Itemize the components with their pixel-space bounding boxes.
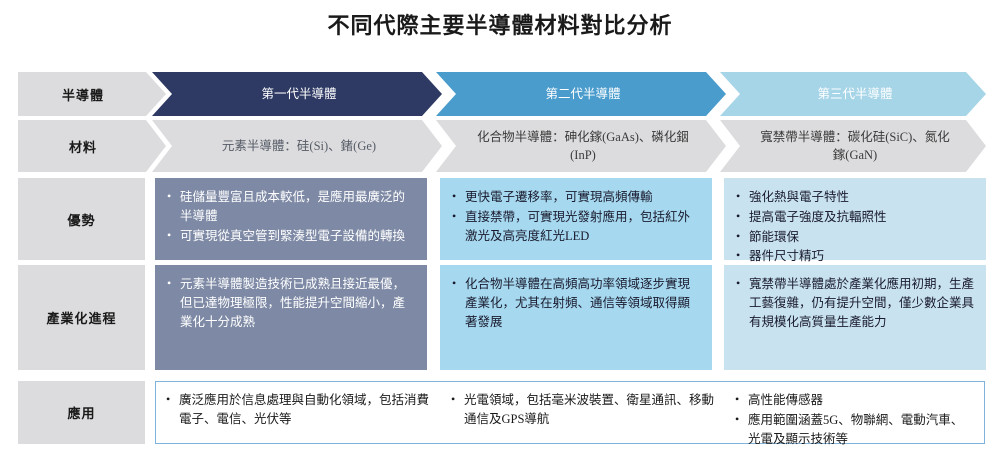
gen2-header[interactable]: 第二代半導體 — [436, 72, 726, 116]
gen2-advantage: 更快電子遷移率，可實現高頻傳輸 直接禁帶，可實現光發射應用，包括紅外激光及高亮度… — [440, 178, 712, 260]
row-label-application: 應用 — [18, 381, 145, 444]
list-item: 直接禁帶，可實現光發射應用，包括紅外激光及高亮度紅光LED — [450, 208, 700, 246]
gen2-advantage-list: 更快電子遷移率，可實現高頻傳輸 直接禁帶，可實現光發射應用，包括紅外激光及高亮度… — [450, 188, 700, 245]
list-item: 光電領域，包括毫米波裝置、衛星通訊、移動通信及GPS導航 — [449, 391, 715, 429]
gen1-industrialization-list: 元素半導體製造技術已成熟且接近最優，但已達物理極限，性能提升空間縮小，產業化十分… — [165, 275, 415, 331]
gen1-material: 元素半導體：硅(Si)、鍺(Ge) — [152, 120, 442, 172]
list-item: 廣泛應用於信息處理與自動化領域，包括消費電子、電信、光伏等 — [164, 391, 431, 429]
list-item: 器件尺寸精巧 — [734, 247, 974, 266]
list-item: 提高電子強度及抗輻照性 — [734, 208, 974, 227]
row-label-industrialization: 產業化進程 — [18, 265, 145, 370]
gen2-application-list: 光電領域，包括毫米波裝置、衛星通訊、移動通信及GPS導航 — [449, 391, 715, 429]
page-title: 不同代際主要半導體材料對比分析 — [0, 8, 1000, 40]
gen3-application: 高性能傳感器 應用範圍涵蓋5G、物聯網、電動汽車、光電及顯示技術等 — [725, 382, 984, 443]
gen2-industrialization-list: 化合物半導體在高頻高功率領域逐步實現產業化，尤其在射頻、通信等領域取得顯著發展 — [450, 275, 700, 331]
gen3-advantage: 強化熱與電子特性 提高電子強度及抗輻照性 節能環保 器件尺寸精巧 — [724, 178, 986, 260]
gen3-industrialization-list: 寬禁帶半導體處於產業化應用初期，生產工藝復雜，仍有提升空間，僅少數企業具有規模化… — [734, 275, 974, 331]
list-item: 化合物半導體在高頻高功率領域逐步實現產業化，尤其在射頻、通信等領域取得顯著發展 — [450, 275, 700, 331]
gen2-application: 光電領域，包括毫米波裝置、衛星通訊、移動通信及GPS導航 — [441, 382, 725, 443]
gen1-application: 廣泛應用於信息處理與自動化領域，包括消費電子、電信、光伏等 — [156, 382, 441, 443]
gen3-application-list: 高性能傳感器 應用範圍涵蓋5G、物聯網、電動汽車、光電及顯示技術等 — [733, 391, 974, 448]
gen3-material: 寬禁帶半導體：碳化硅(SiC)、氮化鎵(GaN) — [720, 120, 986, 172]
list-item: 節能環保 — [734, 228, 974, 247]
list-item: 應用範圍涵蓋5G、物聯網、電動汽車、光電及顯示技術等 — [733, 411, 974, 449]
list-item: 寬禁帶半導體處於產業化應用初期，生產工藝復雜，仍有提升空間，僅少數企業具有規模化… — [734, 275, 974, 331]
gen2-industrialization: 化合物半導體在高頻高功率領域逐步實現產業化，尤其在射頻、通信等領域取得顯著發展 — [440, 265, 712, 370]
infographic-root: 不同代際主要半導體材料對比分析 半導體 第一代半導體 第二代半導體 第三代半導體… — [0, 0, 1000, 454]
list-item: 強化熱與電子特性 — [734, 188, 974, 207]
list-item: 更快電子遷移率，可實現高頻傳輸 — [450, 188, 700, 207]
gen3-industrialization: 寬禁帶半導體處於產業化應用初期，生產工藝復雜，仍有提升空間，僅少數企業具有規模化… — [724, 265, 986, 370]
list-item: 高性能傳感器 — [733, 391, 974, 410]
gen1-industrialization: 元素半導體製造技術已成熟且接近最優，但已達物理極限，性能提升空間縮小，產業化十分… — [155, 265, 427, 370]
gen1-advantage: 硅儲量豐富且成本較低，是應用最廣泛的半導體 可實現從真空管到緊湊型電子設備的轉換 — [155, 178, 427, 260]
row-label-semiconductor: 半導體 — [18, 72, 166, 116]
gen3-header[interactable]: 第三代半導體 — [720, 72, 986, 116]
gen1-header[interactable]: 第一代半導體 — [152, 72, 442, 116]
application-band: 廣泛應用於信息處理與自動化領域，包括消費電子、電信、光伏等 光電領域，包括毫米波… — [155, 381, 985, 444]
gen1-application-list: 廣泛應用於信息處理與自動化領域，包括消費電子、電信、光伏等 — [164, 391, 431, 429]
list-item: 可實現從真空管到緊湊型電子設備的轉換 — [165, 227, 415, 246]
gen1-advantage-list: 硅儲量豐富且成本較低，是應用最廣泛的半導體 可實現從真空管到緊湊型電子設備的轉換 — [165, 188, 415, 245]
gen2-material: 化合物半導體：砷化鎵(GaAs)、磷化銦(InP) — [436, 120, 726, 172]
list-item: 元素半導體製造技術已成熟且接近最優，但已達物理極限，性能提升空間縮小，產業化十分… — [165, 275, 415, 331]
gen3-advantage-list: 強化熱與電子特性 提高電子強度及抗輻照性 節能環保 器件尺寸精巧 — [734, 188, 974, 266]
row-label-advantage: 優勢 — [18, 178, 145, 260]
row-label-material: 材料 — [18, 120, 166, 172]
list-item: 硅儲量豐富且成本較低，是應用最廣泛的半導體 — [165, 188, 415, 226]
